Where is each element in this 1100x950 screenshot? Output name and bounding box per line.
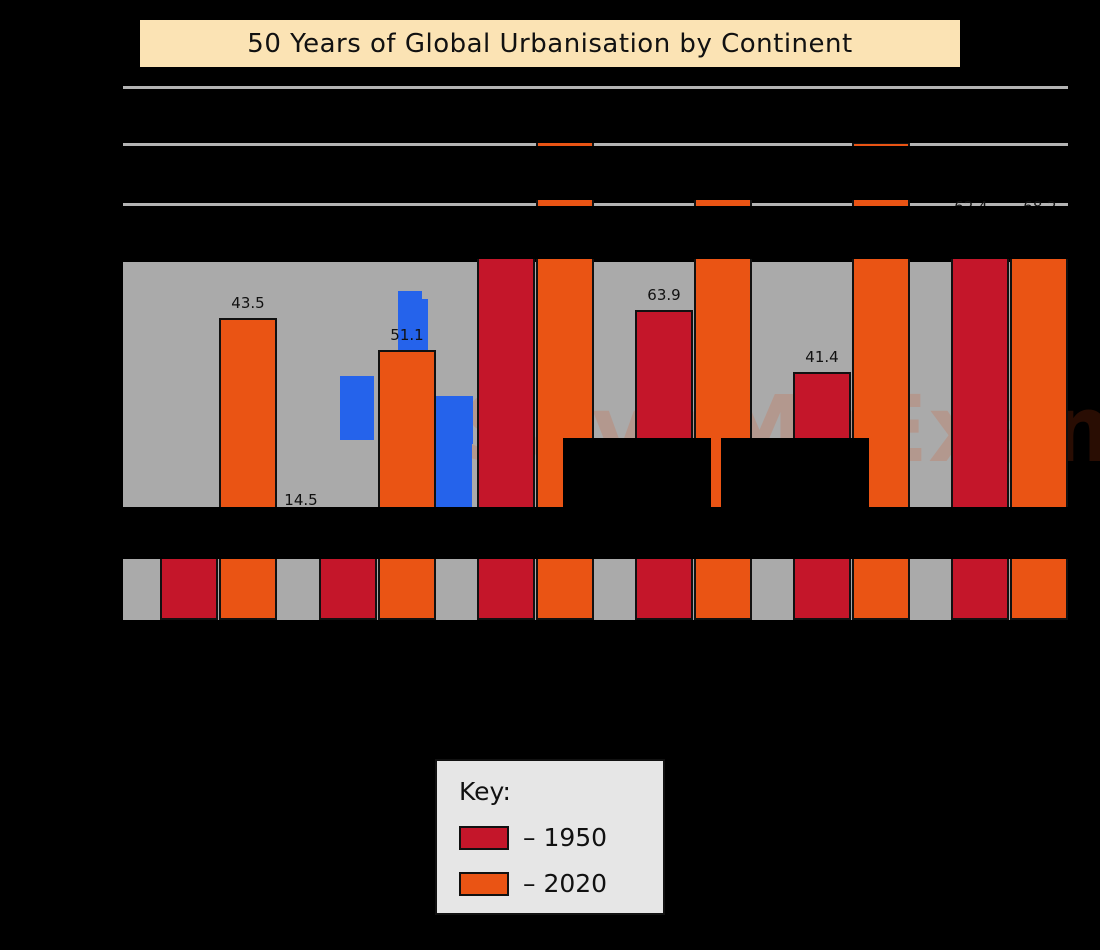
bar-1950-oceania[interactable] [951, 220, 1009, 620]
chart-title-box: 50 Years of Global Urbanisation by Conti… [140, 20, 960, 67]
bar-label-1950-4: 41.4 [793, 348, 851, 366]
occluder-band-b [721, 438, 869, 508]
legend-item-1950[interactable]: – 1950 [459, 823, 607, 852]
occluder-upper [123, 146, 1068, 200]
occluder-top-left [123, 89, 1068, 143]
occluder-band-a [563, 438, 711, 508]
bar-label-1950-3: 63.9 [635, 286, 693, 304]
legend-item-2020[interactable]: – 2020 [459, 869, 607, 898]
occluder-mid [123, 206, 1068, 259]
bar-label-2020-1: 51.1 [378, 326, 436, 344]
page-title: 50 Years of Global Urbanisation by Conti… [247, 29, 852, 59]
legend-heading: Key: [459, 777, 511, 806]
bar-label-2020-0: 43.5 [219, 294, 277, 312]
legend-label-2020: – 2020 [523, 869, 607, 898]
overlay-block-5 [398, 291, 422, 307]
occluder-lower [123, 507, 1068, 559]
legend-label-1950: – 1950 [523, 823, 607, 852]
chart-plot-area: SaveMyExams 14.5 43.5 51.1 63.9 41.4 62.… [123, 86, 1068, 620]
bar-2020-africa[interactable] [219, 318, 277, 620]
bar-2020-asia[interactable] [378, 350, 436, 620]
bar-2020-oceania[interactable] [1010, 215, 1068, 620]
bar-1950-europe[interactable] [477, 228, 535, 620]
legend-key-box: Key: – 1950 – 2020 [435, 759, 665, 915]
legend-swatch-2020 [459, 872, 509, 896]
overlay-block-1 [340, 376, 374, 440]
legend-swatch-1950 [459, 826, 509, 850]
